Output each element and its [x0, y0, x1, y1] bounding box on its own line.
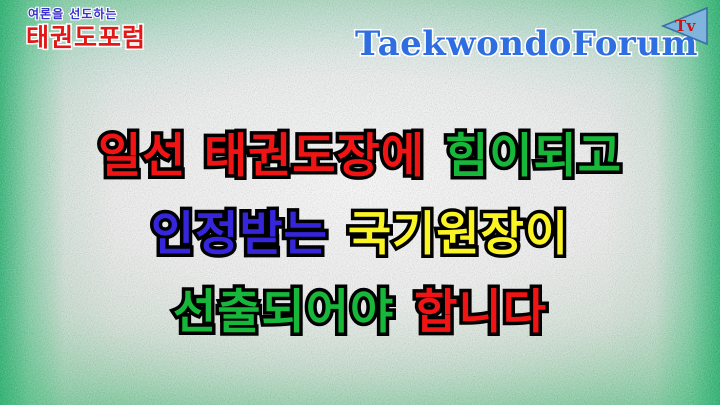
caption-segment: 선출되어야 [173, 285, 394, 340]
tv-badge-label: Tv [675, 17, 696, 35]
caption-segment: 힘이되고 [445, 129, 622, 184]
caption-line-2: 인정받는국기원장이 [0, 196, 720, 274]
channel-logo-brand: 태권도포럼 [26, 25, 146, 50]
channel-logo: 여론을 선도하는 태권도포럼 [26, 8, 146, 50]
caption-segment: 인정받는 [151, 207, 328, 262]
caption-line-3: 선출되어야합니다 [0, 274, 720, 352]
caption-segment: 합니다 [414, 285, 547, 340]
caption-line-1: 일선 태권도장에힘이되고 [0, 118, 720, 196]
channel-logo-kicker: 여론을 선도하는 [28, 8, 146, 20]
caption-block: 일선 태권도장에힘이되고 인정받는국기원장이 선출되어야합니다 [0, 118, 720, 352]
site-name-watermark: TaekwondoForum [355, 24, 698, 64]
tv-badge: Tv [659, 6, 711, 48]
caption-segment: 국기원장이 [348, 207, 569, 262]
caption-segment: 일선 태권도장에 [98, 129, 425, 184]
video-frame: 여론을 선도하는 태권도포럼 TaekwondoForum Tv 일선 태권도장… [0, 0, 720, 405]
